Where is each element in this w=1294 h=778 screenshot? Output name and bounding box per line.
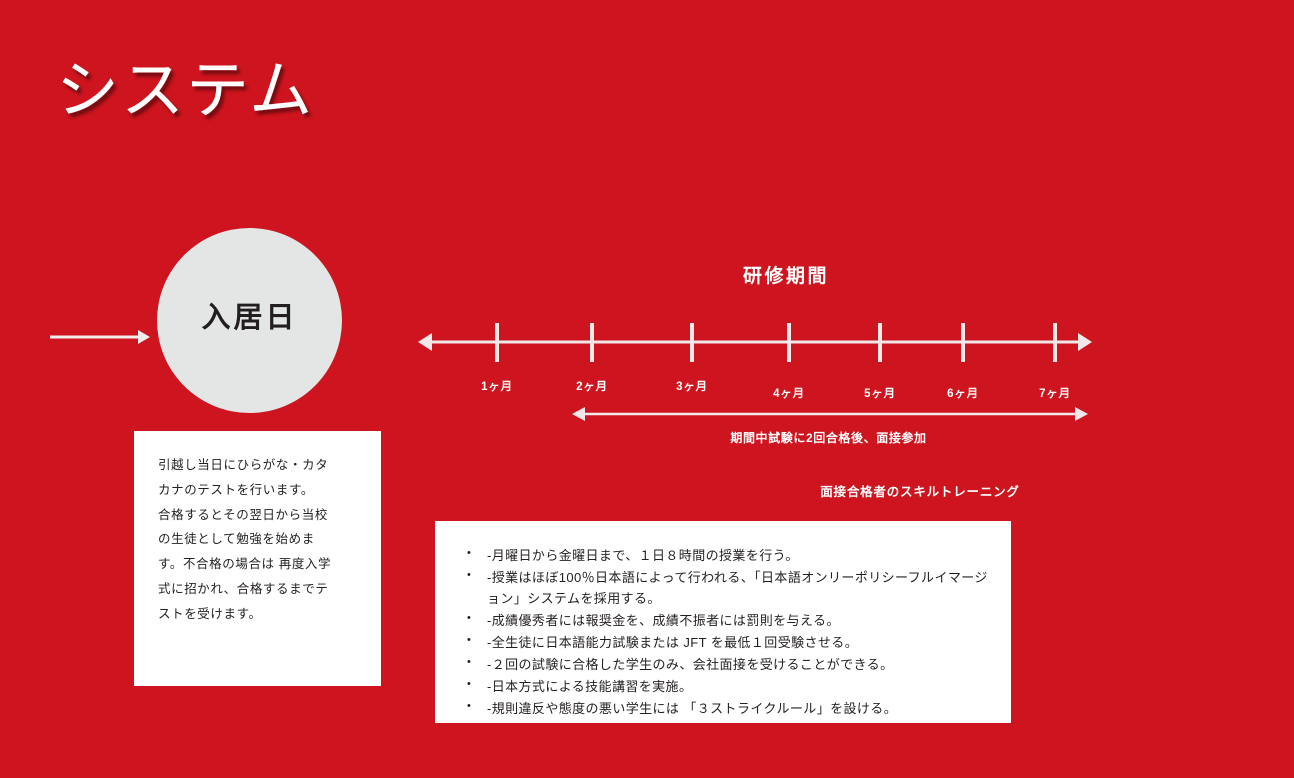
list-item: -全生徒に日本語能力試験または JFT を最低１回受験させる。	[463, 632, 993, 653]
note-text: 引越し当日にひらがな・カタ カナのテストを行います。 合格するとその翌日から当校…	[158, 453, 361, 626]
move-in-day-circle: 入居日	[157, 228, 342, 413]
list-item: -授業はほぼ100％日本語によって行われる、「日本語オンリーポリシーフルイマージ…	[463, 567, 993, 609]
slide-canvas: システム 入居日 引越し当日にひらがな・カタ カナのテストを行います。 合格する…	[0, 0, 1294, 778]
page-title: システム	[56, 58, 314, 124]
rules-list: -月曜日から金曜日まで、１日８時間の授業を行う。 -授業はほぼ100％日本語によ…	[463, 545, 993, 719]
timeline-range-caption: 期間中試験に2回合格後、面接参加	[572, 429, 1085, 446]
skill-training-heading: 面接合格者のスキルトレーニング	[760, 481, 1080, 500]
flow-arrow-right-icon	[50, 325, 150, 349]
list-item: -成績優秀者には報奨金を、成績不振者には罰則を与える。	[463, 610, 993, 631]
list-item: -２回の試験に合格した学生のみ、会社面接を受けることができる。	[463, 654, 993, 675]
list-item: -規則違反や態度の悪い学生には 「３ストライクルール」を設ける。	[463, 698, 993, 719]
note-panel: 引越し当日にひらがな・カタ カナのテストを行います。 合格するとその翌日から当校…	[134, 431, 381, 686]
move-in-day-label: 入居日	[201, 294, 297, 336]
rules-panel: -月曜日から金曜日まで、１日８時間の授業を行う。 -授業はほぼ100％日本語によ…	[435, 521, 1011, 723]
list-item: -月曜日から金曜日まで、１日８時間の授業を行う。	[463, 545, 993, 566]
timeline-title: 研修期間	[700, 261, 872, 288]
list-item: -日本方式による技能講習を実施。	[463, 676, 993, 697]
